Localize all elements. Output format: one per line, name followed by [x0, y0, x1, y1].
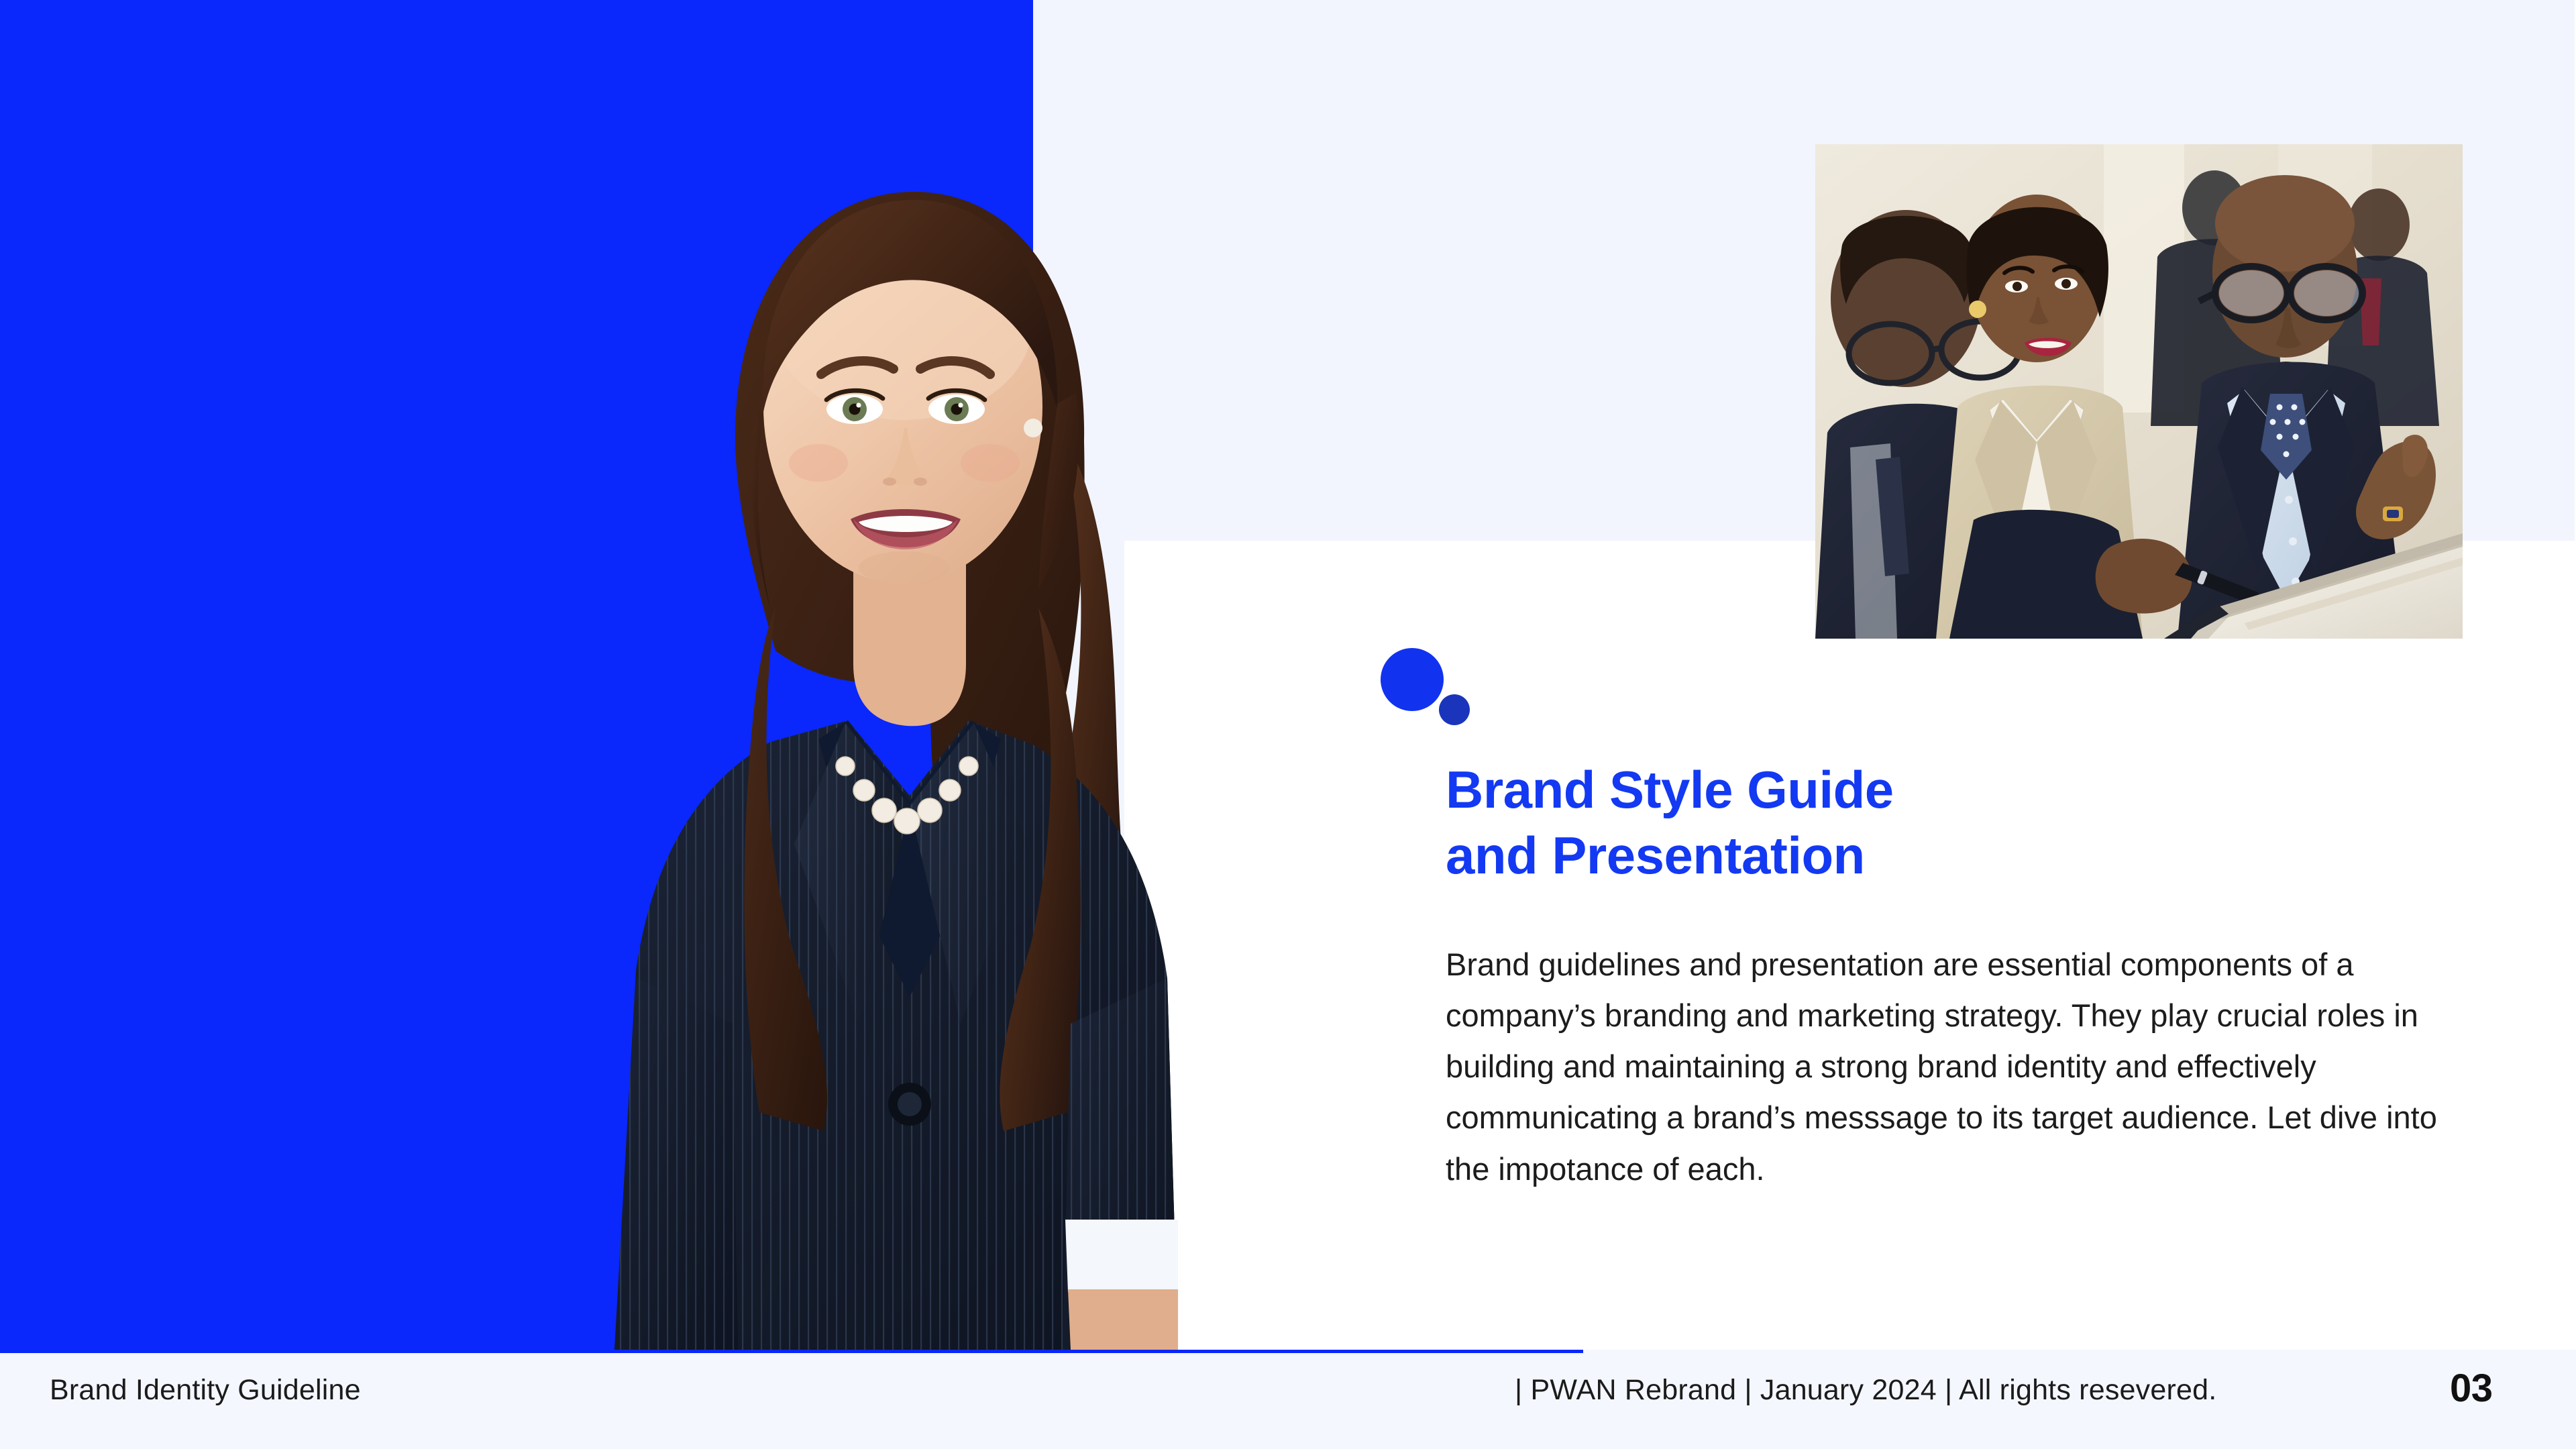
decorative-dot-large: [1381, 648, 1444, 711]
businesswoman-portrait-image: [507, 165, 1285, 1350]
decorative-dot-small: [1439, 694, 1470, 725]
slide-canvas: Brand Style Guide and Presentation Brand…: [0, 0, 2576, 1449]
footer-left-label: Brand Identity Guideline: [50, 1374, 361, 1407]
footer-center-label: | PWAN Rebrand | January 2024 | All righ…: [1515, 1374, 2216, 1407]
page-title-line-1: Brand Style Guide: [1446, 757, 2452, 822]
footer-divider-rule: [0, 1350, 1583, 1353]
footer-page-number: 03: [2450, 1366, 2493, 1411]
body-paragraph: Brand guidelines and presentation are es…: [1446, 939, 2479, 1195]
page-title-line-2: and Presentation: [1446, 822, 2452, 888]
business-meeting-photo: [1815, 144, 2463, 639]
page-title: Brand Style Guide and Presentation: [1446, 757, 2452, 889]
